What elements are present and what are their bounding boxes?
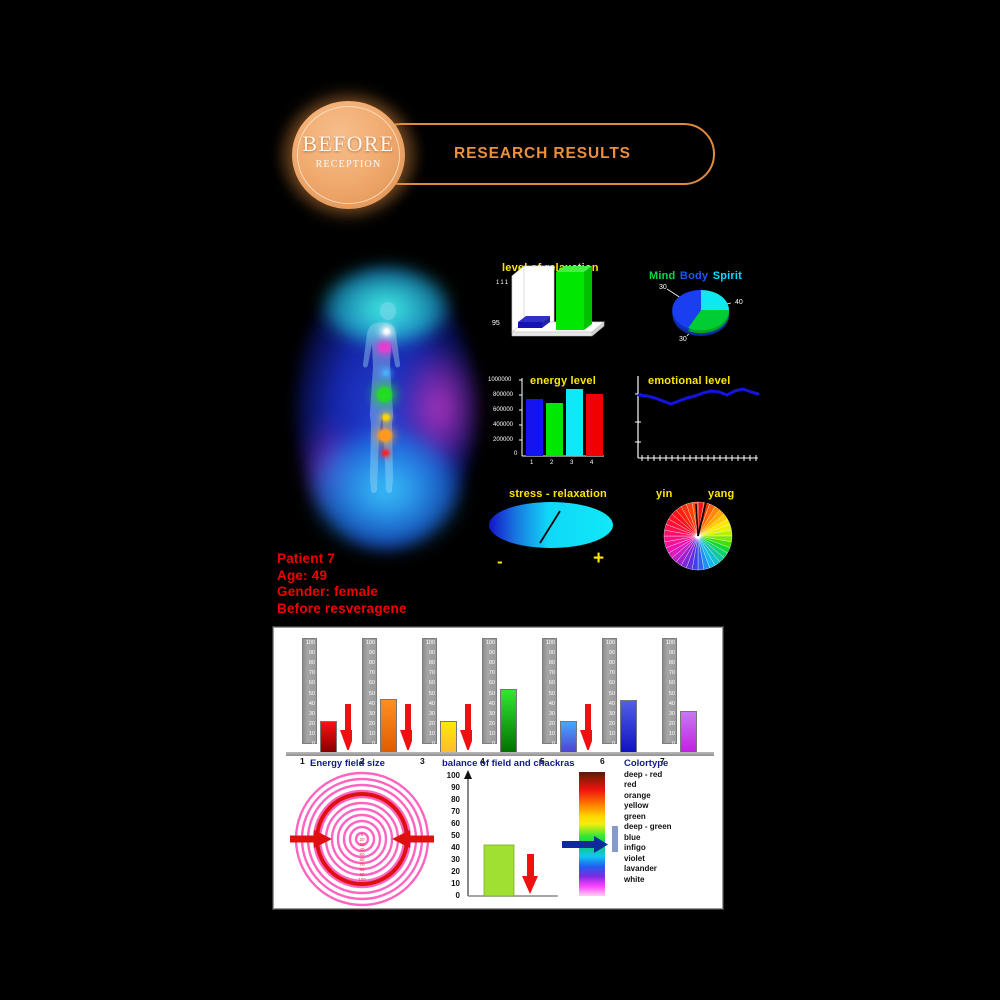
badge-subtitle: RECEPTION <box>292 159 405 170</box>
patient-condition: Before resveragene <box>277 601 407 618</box>
colortype-item-10: white <box>624 875 672 885</box>
chakra-bar-6 <box>620 700 637 754</box>
chakra-bar-2 <box>380 699 397 754</box>
colortype-list: deep - redredorangeyellowgreendeep - gre… <box>624 770 672 885</box>
chart-mind-body-spirit: Mind Body Spirit 30 40 30 <box>643 264 755 350</box>
chart-yin-yang: yin yang <box>648 486 753 576</box>
chart-energy-level: energy level 1000000 800000 600000 40000… <box>488 370 610 470</box>
balance-chart: 1009080706050403020100 <box>434 770 574 908</box>
patient-age: Age: 49 <box>277 568 407 585</box>
chakra-group-5: 10090807060504030201005 <box>538 638 596 754</box>
chakra-group-1: 10090807060504030201001 <box>298 638 356 754</box>
chakra-bar-1 <box>320 721 337 754</box>
colortype-item-0: deep - red <box>624 770 672 780</box>
chart-level-of-relaxation: level of relaxation 111 95 <box>488 258 613 353</box>
section-divider <box>286 752 714 756</box>
energy-field-scale: 0 20 30 40 50 60 70 80 90 100 <box>358 832 366 882</box>
page-title: RESEARCH RESULTS <box>372 145 713 163</box>
patient-name: Patient 7 <box>277 551 407 568</box>
balance-title: balance of field and chackras <box>442 758 575 769</box>
chakra-group-6: 10090807060504030201006 <box>598 638 656 754</box>
chart-stress-relaxation: stress - relaxation - + <box>485 486 620 576</box>
chart-emotional-level: emotional level <box>630 370 762 470</box>
chakra-group-2: 10090807060504030201002 <box>358 638 416 754</box>
chakra-bar-3 <box>440 721 457 754</box>
chakra-bar-5 <box>560 721 577 754</box>
before-reception-badge[interactable]: BEFORE RECEPTION <box>292 101 405 209</box>
colortype-item-3: yellow <box>624 801 672 811</box>
chakra-dot-third-eye <box>378 342 391 353</box>
colortype-item-1: red <box>624 780 672 790</box>
pie-graphic <box>643 264 755 350</box>
chakra-dot-throat <box>383 370 389 376</box>
chakra-dot-heart <box>377 387 392 402</box>
chakra-scale-6: 1009080706050403020100 <box>602 638 617 744</box>
detailed-results-panel: 1009080706050403020100110090807060504030… <box>273 627 723 909</box>
colortype-item-8: violet <box>624 854 672 864</box>
colortype-item-9: lavander <box>624 864 672 874</box>
chakra-bar-4 <box>500 689 517 754</box>
chakra-bar-chart: 1009080706050403020100110090807060504030… <box>274 632 724 754</box>
colortype-marker-arrow <box>562 830 608 860</box>
chakra-down-arrow-5 <box>580 704 592 750</box>
chakra-scale-2: 1009080706050403020100 <box>362 638 377 744</box>
yin-yang-wheel-graphic <box>648 486 753 576</box>
chakra-scale-1: 1009080706050403020100 <box>302 638 317 744</box>
chakra-dot-sacral <box>378 429 392 442</box>
relaxation-3d-bars <box>488 258 613 353</box>
chakra-down-arrow-2 <box>400 704 412 750</box>
colortype-marker-tick <box>612 826 618 852</box>
energy-field-diagram: 0 20 30 40 50 60 70 80 90 100 <box>288 770 436 908</box>
research-results-page: RESEARCH RESULTS BEFORE RECEPTION Patien… <box>0 0 1000 1000</box>
chakra-scale-3: 1009080706050403020100 <box>422 638 437 744</box>
chakra-group-3: 10090807060504030201003 <box>418 638 476 754</box>
chakra-group-7: 10090807060504030201007 <box>658 638 716 754</box>
chakra-dot-root <box>382 450 389 456</box>
balance-graphic <box>434 770 574 908</box>
chakra-group-4: 10090807060504030201004 <box>478 638 536 754</box>
chakra-bar-7 <box>680 711 697 754</box>
colortype-title: Colortype <box>624 758 668 769</box>
chakra-down-arrow-1 <box>340 704 352 750</box>
colortype-item-6: blue <box>624 833 672 843</box>
energy-field-title: Energy field size <box>310 758 385 769</box>
patient-gender: Gender: female <box>277 584 407 601</box>
colortype-item-4: green <box>624 812 672 822</box>
patient-info: Patient 7 Age: 49 Gender: female Before … <box>277 551 407 617</box>
lower-analysis-section: Energy field size <box>274 758 724 908</box>
chakra-scale-5: 1009080706050403020100 <box>542 638 557 744</box>
colortype-item-2: orange <box>624 791 672 801</box>
emotional-level-line <box>630 370 762 470</box>
colortype-item-5: deep - green <box>624 822 672 832</box>
energy-level-bars <box>488 370 610 470</box>
chakra-dot-solar-plexus <box>382 414 390 421</box>
chakra-down-arrow-3 <box>460 704 472 750</box>
chakra-scale-4: 1009080706050403020100 <box>482 638 497 744</box>
chakra-scale-7: 1009080706050403020100 <box>662 638 677 744</box>
colortype-item-7: infigo <box>624 843 672 853</box>
chakra-dot-crown <box>383 328 390 335</box>
stress-gauge-graphic <box>485 486 620 576</box>
header: RESEARCH RESULTS BEFORE RECEPTION <box>0 0 1000 230</box>
aura-photograph <box>288 258 488 553</box>
badge-title: BEFORE <box>292 131 405 157</box>
